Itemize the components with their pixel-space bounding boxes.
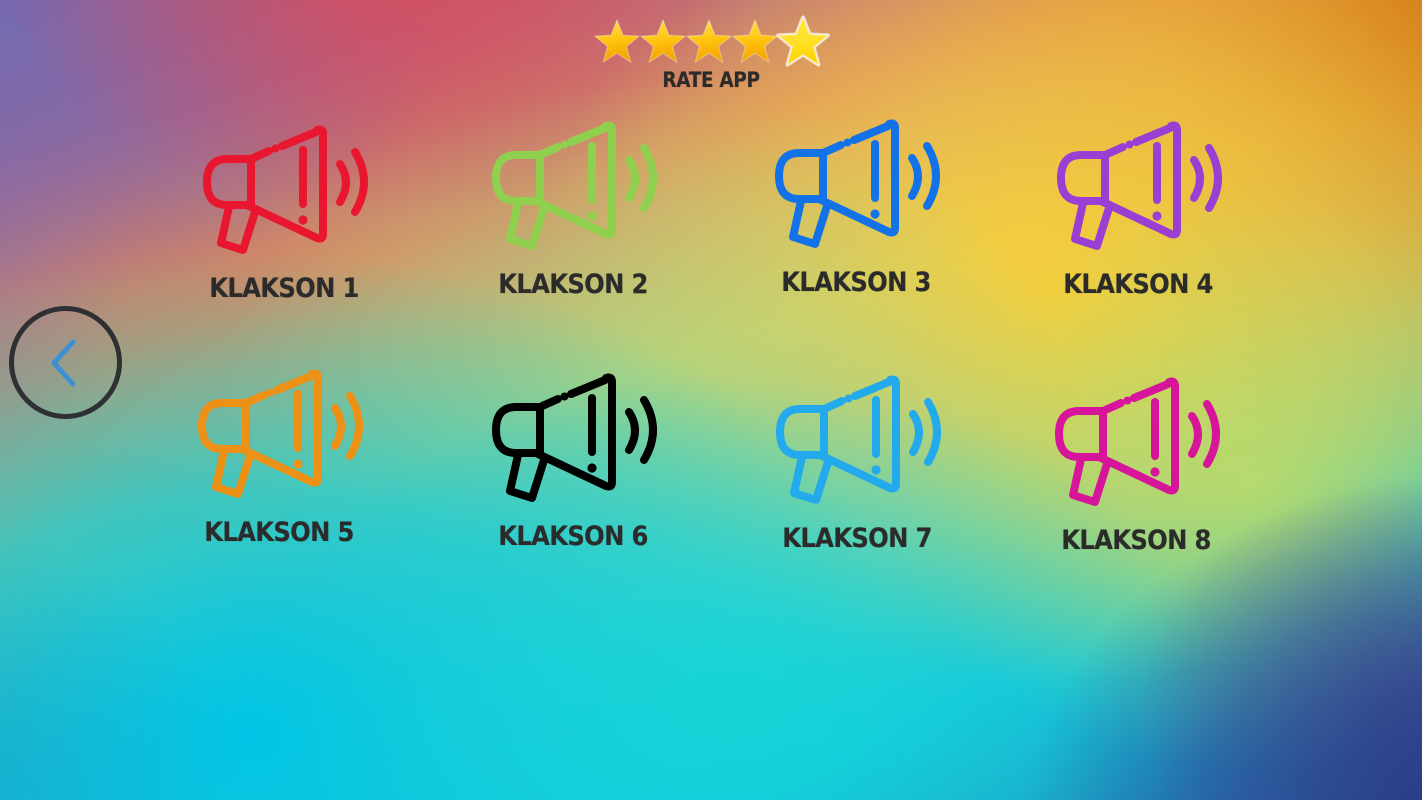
horn-label: KLAKSON 4	[1064, 269, 1213, 300]
megaphone-icon	[488, 360, 658, 515]
rate-app-button[interactable]: RATE APP	[0, 14, 1422, 92]
horn-label: KLAKSON 2	[499, 269, 648, 300]
horn-button-8[interactable]: KLAKSON 8	[993, 364, 1281, 582]
horn-label: KLAKSON 6	[499, 521, 648, 552]
horn-label: KLAKSON 3	[781, 267, 930, 298]
horn-button-6[interactable]: KLAKSON 6	[430, 360, 718, 578]
back-button[interactable]	[9, 306, 122, 419]
megaphone-icon	[1051, 364, 1221, 519]
star-icon[interactable]	[775, 14, 831, 70]
star-icon[interactable]	[638, 17, 688, 67]
megaphone-icon	[1053, 108, 1223, 263]
chevron-left-icon	[44, 337, 84, 389]
horn-label: KLAKSON 1	[209, 273, 358, 304]
megaphone-icon	[771, 106, 941, 261]
horn-button-1[interactable]: KLAKSON 1	[140, 112, 428, 330]
horn-button-5[interactable]: KLAKSON 5	[135, 356, 423, 574]
star-icon[interactable]	[592, 17, 642, 67]
star-rating[interactable]	[0, 14, 1422, 70]
horn-button-2[interactable]: KLAKSON 2	[430, 108, 718, 326]
horn-label: KLAKSON 5	[204, 517, 353, 548]
horn-button-7[interactable]: KLAKSON 7	[713, 362, 1001, 580]
star-icon[interactable]	[684, 17, 734, 67]
megaphone-icon	[488, 108, 658, 263]
horn-button-4[interactable]: KLAKSON 4	[995, 108, 1283, 326]
horn-grid: KLAKSON 1KLAKSON 2KLAKSON 3KLAKSON 4KLAK…	[140, 112, 1290, 572]
rate-app-label: RATE APP	[85, 68, 1336, 92]
horn-label: KLAKSON 7	[782, 523, 931, 554]
horn-button-3[interactable]: KLAKSON 3	[712, 106, 1000, 324]
star-icon[interactable]	[730, 17, 780, 67]
horn-label: KLAKSON 8	[1062, 525, 1211, 556]
app-screen: RATE APP KLAKSON 1KLAKSON 2KLAKSON 3KLAK…	[0, 0, 1422, 800]
megaphone-icon	[772, 362, 942, 517]
megaphone-icon	[199, 112, 369, 267]
megaphone-icon	[194, 356, 364, 511]
